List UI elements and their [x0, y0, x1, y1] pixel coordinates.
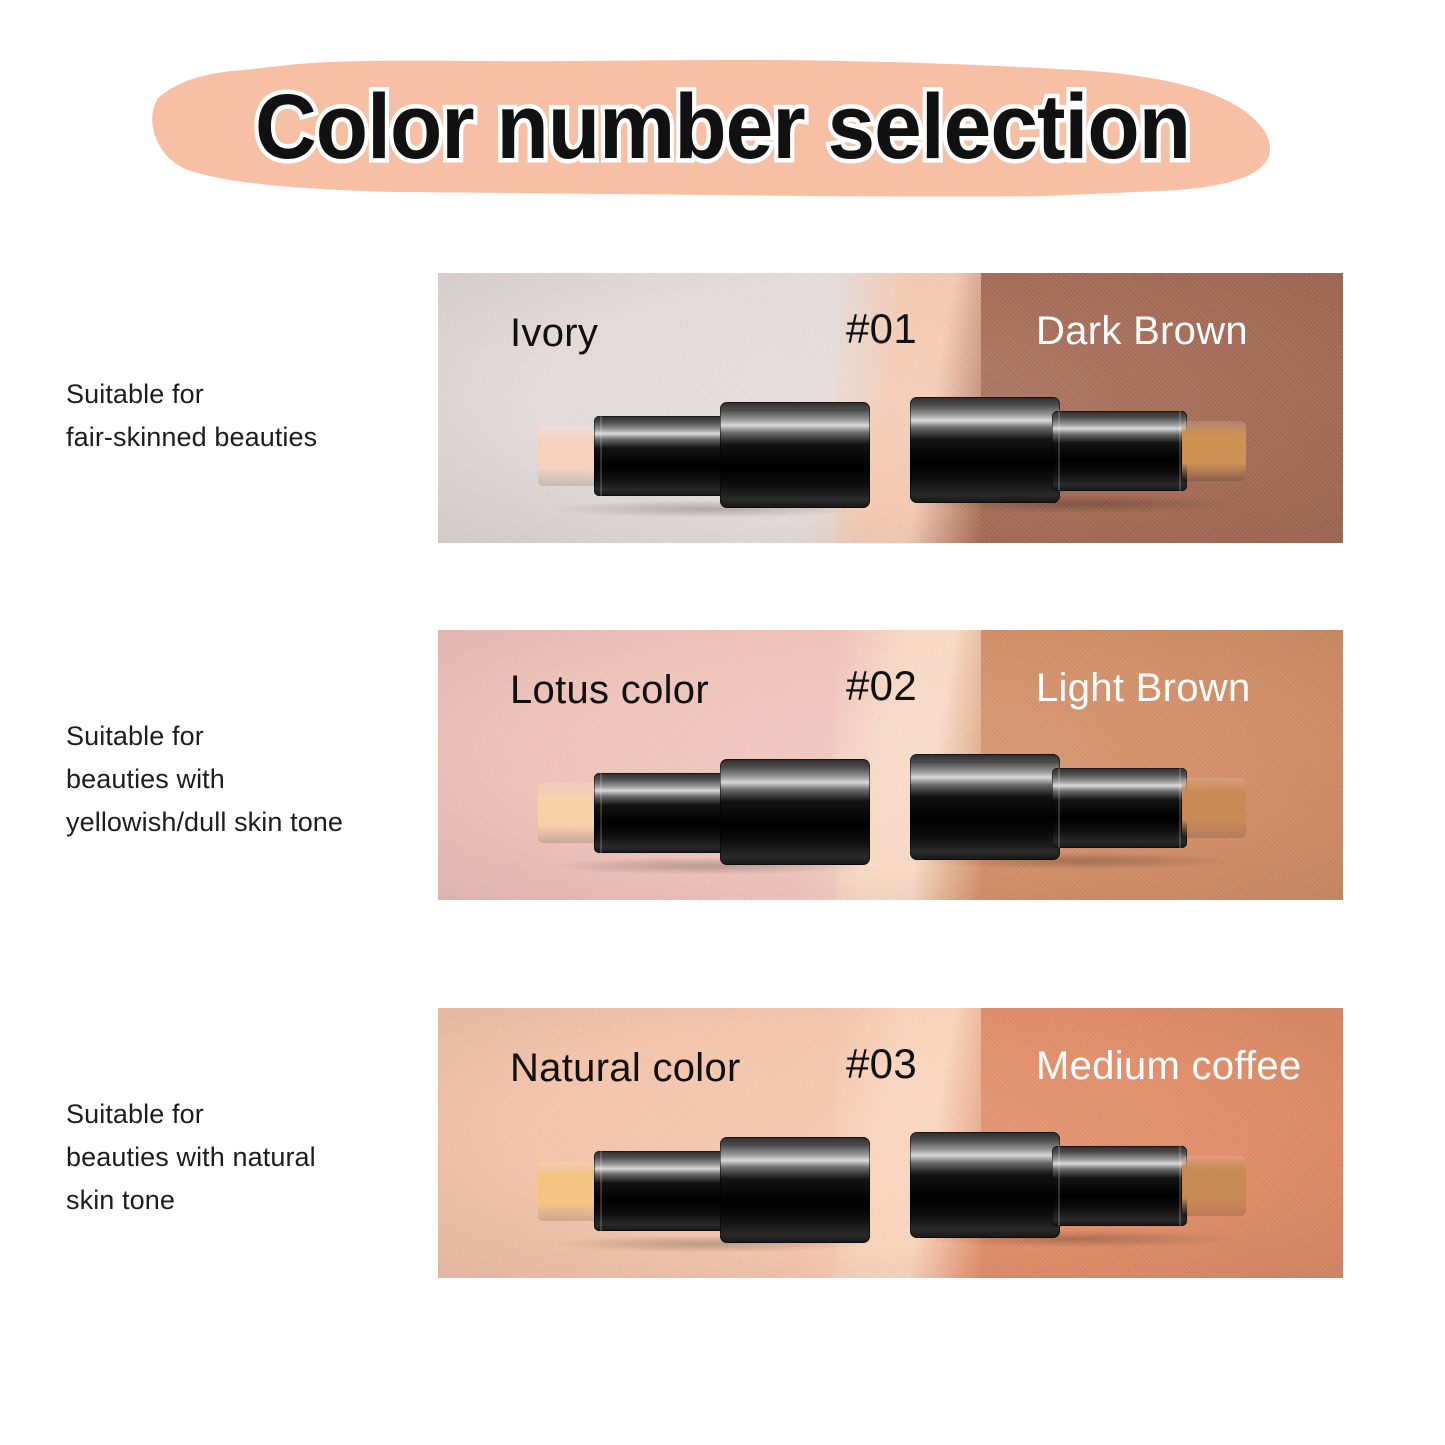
shade-label-left: Natural color — [510, 1046, 741, 1091]
page-title: Color number selection — [51, 62, 1395, 192]
concealer-stick-right[interactable] — [910, 1128, 1250, 1238]
stick-barrel — [910, 754, 1060, 860]
note-line: skin tone — [66, 1179, 446, 1222]
shade-label-left: Ivory — [510, 311, 598, 356]
swatch-panel-02[interactable]: Lotus color #02 Light Brown — [438, 630, 1343, 900]
concealer-stick-left[interactable] — [538, 755, 878, 865]
color-row-03: Suitable for beauties with natural skin … — [0, 1008, 1445, 1278]
concealer-stick-left[interactable] — [538, 398, 878, 508]
note-line: beauties with — [66, 758, 446, 801]
color-row-02: Suitable for beauties with yellowish/dul… — [0, 630, 1445, 900]
note-line: Suitable for — [66, 715, 446, 758]
stick-neck — [1052, 768, 1187, 848]
note-line: Suitable for — [66, 1093, 446, 1136]
stick-barrel — [910, 1132, 1060, 1238]
swatch-panel-03[interactable]: Natural color #03 Medium coffee — [438, 1008, 1343, 1278]
suitability-note-03: Suitable for beauties with natural skin … — [66, 1093, 446, 1222]
shade-label-right: Medium coffee — [1036, 1044, 1302, 1089]
stick-tip-left — [538, 426, 602, 486]
suitability-note-02: Suitable for beauties with yellowish/dul… — [66, 715, 446, 844]
stick-neck — [594, 773, 729, 853]
concealer-stick-left[interactable] — [538, 1133, 878, 1243]
shade-code-label: #01 — [846, 305, 917, 353]
stick-barrel — [720, 402, 870, 508]
swatch-panel-01[interactable]: Ivory #01 Dark Brown — [438, 273, 1343, 543]
note-line: Suitable for — [66, 373, 446, 416]
title-banner: Color number selection — [0, 0, 1445, 230]
shade-label-right: Dark Brown — [1036, 309, 1248, 354]
note-line: fair-skinned beauties — [66, 416, 446, 459]
stick-tip-right — [1182, 1156, 1246, 1216]
concealer-stick-right[interactable] — [910, 393, 1250, 503]
stick-tip-right — [1182, 421, 1246, 481]
shade-label-left: Lotus color — [510, 668, 709, 713]
stick-neck — [594, 416, 729, 496]
stick-tip-right — [1182, 778, 1246, 838]
stick-neck — [1052, 411, 1187, 491]
stick-barrel — [720, 1137, 870, 1243]
shade-label-right: Light Brown — [1036, 666, 1251, 711]
stick-neck — [1052, 1146, 1187, 1226]
stick-tip-left — [538, 1161, 602, 1221]
shade-code-label: #03 — [846, 1040, 917, 1088]
stick-neck — [594, 1151, 729, 1231]
note-line: beauties with natural — [66, 1136, 446, 1179]
stick-barrel — [910, 397, 1060, 503]
stick-tip-left — [538, 783, 602, 843]
color-row-01: Suitable for fair-skinned beauties Ivory… — [0, 273, 1445, 543]
concealer-stick-right[interactable] — [910, 750, 1250, 860]
stick-barrel — [720, 759, 870, 865]
note-line: yellowish/dull skin tone — [66, 801, 446, 844]
suitability-note-01: Suitable for fair-skinned beauties — [66, 373, 446, 459]
shade-code-label: #02 — [846, 662, 917, 710]
